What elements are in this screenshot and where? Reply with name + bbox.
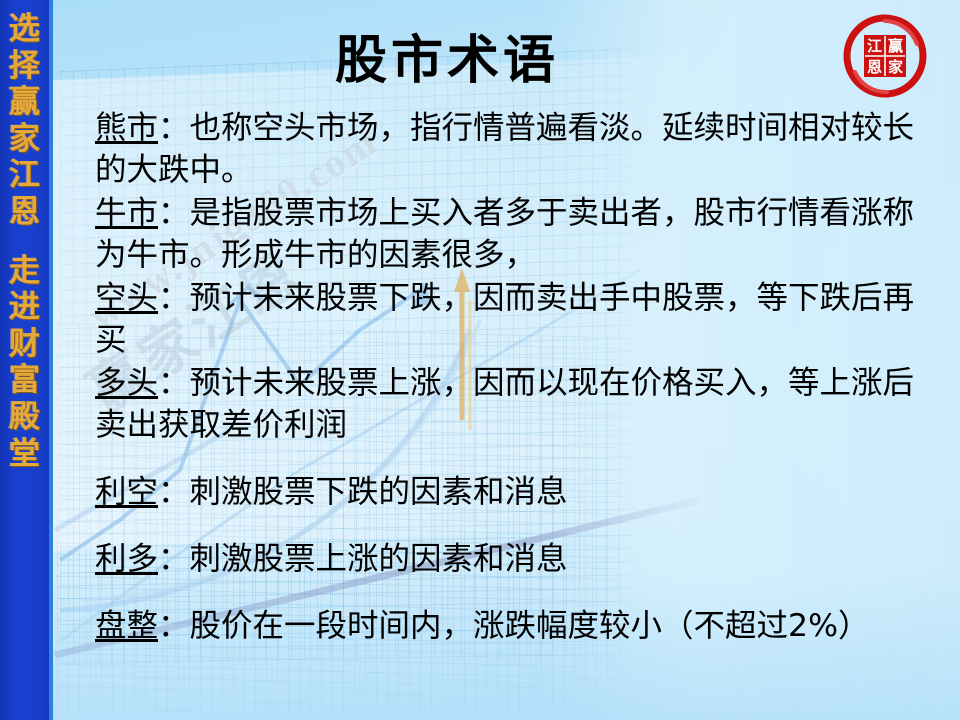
term-definition: 预计未来股票下跌，因而卖出手中股票，等下跌后再买 xyxy=(95,280,914,358)
term-name: 盘整 xyxy=(95,608,158,644)
term-name: 空头 xyxy=(95,280,158,316)
term-entry: 多头：预计未来股票上涨，因而以现在价格买入，等上涨后卖出获取差价利润 xyxy=(95,362,940,446)
term-name: 牛市 xyxy=(95,195,158,231)
svg-text:家: 家 xyxy=(888,58,903,76)
term-definition: 刺激股票下跌的因素和消息 xyxy=(190,474,568,510)
term-definition: 也称空头市场，指行情普遍看淡。延续时间相对较长的大跌中。 xyxy=(95,110,914,188)
banner-char: 择 xyxy=(9,51,40,83)
term-separator: ： xyxy=(158,541,190,577)
term-separator: ： xyxy=(158,280,190,316)
banner-char: 恩 xyxy=(9,197,40,229)
term-entry: 空头：预计未来股票下跌，因而卖出手中股票，等下跌后再买 xyxy=(95,277,940,361)
term-name: 熊市 xyxy=(95,110,158,146)
banner-char: 江 xyxy=(9,160,40,192)
term-entry: 盘整：股价在一段时间内，涨跌幅度较小（不超过2%） xyxy=(95,605,940,647)
seal-logo-icon: 江 赢 恩 家 xyxy=(843,14,927,98)
svg-text:江: 江 xyxy=(867,37,882,55)
banner-char: 进 xyxy=(9,292,40,324)
banner-line-2: 走 进 财 富 殿 堂 xyxy=(9,256,40,476)
terms-list: 熊市：也称空头市场，指行情普遍看淡。延续时间相对较长的大跌中。 牛市：是指股票市… xyxy=(95,107,940,648)
banner-char: 选 xyxy=(9,14,40,46)
term-separator: ： xyxy=(158,195,190,231)
term-entry: 牛市：是指股票市场上买入者多于卖出者，股市行情看涨称为牛市。形成牛市的因素很多， xyxy=(95,192,940,276)
left-banner: 选 择 赢 家 江 恩 走 进 财 富 殿 堂 xyxy=(0,0,53,720)
term-definition: 刺激股票上涨的因素和消息 xyxy=(190,541,568,577)
page-title: 股市术语 xyxy=(57,18,837,93)
banner-char: 家 xyxy=(9,124,40,156)
term-definition: 预计未来股票上涨，因而以现在价格买入，等上涨后卖出获取差价利润 xyxy=(95,365,914,443)
term-name: 利空 xyxy=(95,474,158,510)
svg-text:恩: 恩 xyxy=(867,58,882,76)
term-separator: ： xyxy=(158,474,190,510)
banner-char: 财 xyxy=(9,329,40,361)
term-name: 利多 xyxy=(95,541,158,577)
term-name: 多头 xyxy=(95,365,158,401)
term-entry: 利空：刺激股票下跌的因素和消息 xyxy=(95,471,940,513)
banner-char: 富 xyxy=(9,365,40,397)
svg-text:赢: 赢 xyxy=(888,37,903,55)
slide-canvas: 赢家江恩 www.jnjg360.com 选 择 赢 家 江 恩 走 进 财 富… xyxy=(0,0,960,720)
term-entry: 熊市：也称空头市场，指行情普遍看淡。延续时间相对较长的大跌中。 xyxy=(95,107,940,191)
term-separator: ： xyxy=(158,110,190,146)
term-entry: 利多：刺激股票上涨的因素和消息 xyxy=(95,538,940,580)
banner-char: 走 xyxy=(9,256,40,288)
banner-char: 堂 xyxy=(9,439,40,471)
banner-char: 殿 xyxy=(9,402,40,434)
term-separator: ： xyxy=(158,365,190,401)
term-definition: 股价在一段时间内，涨跌幅度较小（不超过2%） xyxy=(190,608,870,644)
term-definition: 是指股票市场上买入者多于卖出者，股市行情看涨称为牛市。形成牛市的因素很多， xyxy=(95,195,914,273)
banner-line-1: 选 择 赢 家 江 恩 xyxy=(9,14,40,234)
banner-char: 赢 xyxy=(9,87,40,119)
term-separator: ： xyxy=(158,608,190,644)
